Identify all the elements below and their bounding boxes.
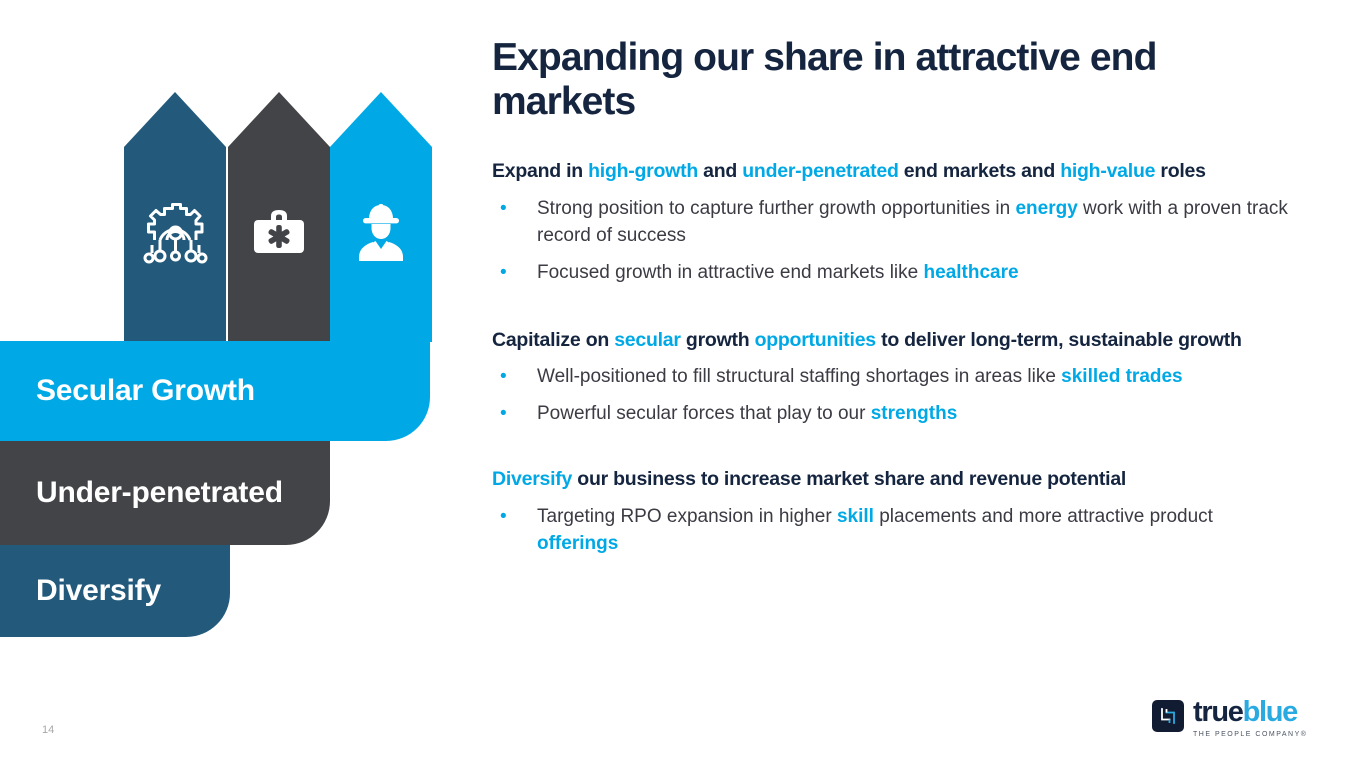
- bullet-glyph-icon: •: [500, 260, 507, 287]
- label-bar-under-penetrated: Under-penetrated: [0, 441, 330, 545]
- arrow-trade: [330, 92, 432, 342]
- section-diversify-bullets: • Targeting RPO expansion in higher skil…: [492, 504, 1292, 558]
- section-expand-bullets: • Strong position to capture further gro…: [492, 196, 1292, 287]
- list-item: • Focused growth in attractive end marke…: [492, 260, 1292, 287]
- section-capitalize-heading: Capitalize on secular growth opportuniti…: [492, 327, 1292, 355]
- label-bar-under-penetrated-text: Under-penetrated: [36, 474, 283, 511]
- section-expand-heading: Expand in high-growth and under-penetrat…: [492, 158, 1292, 186]
- slide-content: Expanding our share in attractive end ma…: [492, 36, 1292, 580]
- label-bar-secular-growth: Secular Growth: [0, 341, 430, 441]
- trueblue-tb-monogram-icon: [1152, 700, 1184, 732]
- list-item: • Powerful secular forces that play to o…: [492, 401, 1292, 428]
- list-item-text: Powerful secular forces that play to our…: [537, 403, 957, 424]
- logo-word-blue: blue: [1243, 696, 1297, 728]
- section-diversify: Diversify our business to increase marke…: [492, 466, 1292, 558]
- list-item: • Well-positioned to fill structural sta…: [492, 364, 1292, 391]
- arrow-health: [228, 92, 330, 342]
- bullet-glyph-icon: •: [500, 196, 507, 223]
- construction-worker-icon: [344, 194, 418, 268]
- trueblue-logo: trueblue THE PEOPLE COMPANY®: [1152, 698, 1307, 738]
- section-expand: Expand in high-growth and under-penetrat…: [492, 158, 1292, 287]
- list-item-text: Focused growth in attractive end markets…: [537, 262, 1019, 283]
- bullet-glyph-icon: •: [500, 401, 507, 428]
- section-capitalize: Capitalize on secular growth opportuniti…: [492, 327, 1292, 429]
- section-diversify-heading: Diversify our business to increase marke…: [492, 466, 1292, 494]
- bullet-glyph-icon: •: [500, 504, 507, 531]
- section-capitalize-bullets: • Well-positioned to fill structural sta…: [492, 364, 1292, 428]
- list-item-text: Strong position to capture further growt…: [537, 198, 1288, 246]
- label-bar-diversify-text: Diversify: [36, 572, 161, 609]
- arrow-tech: [124, 92, 226, 342]
- list-item: • Targeting RPO expansion in higher skil…: [492, 504, 1292, 558]
- logo-word-true: true: [1193, 696, 1243, 728]
- page-title: Expanding our share in attractive end ma…: [492, 36, 1292, 124]
- gear-network-icon: [138, 194, 212, 268]
- label-bar-secular-growth-text: Secular Growth: [36, 372, 255, 409]
- list-item-text: Targeting RPO expansion in higher skill …: [537, 506, 1213, 554]
- logo-tagline: THE PEOPLE COMPANY®: [1193, 731, 1307, 738]
- list-item: • Strong position to capture further gro…: [492, 196, 1292, 250]
- list-item-text: Well-positioned to fill structural staff…: [537, 366, 1183, 387]
- bullet-glyph-icon: •: [500, 364, 507, 391]
- medical-bag-icon: [242, 194, 316, 268]
- label-bar-diversify: Diversify: [0, 545, 230, 637]
- left-graphic-panel: Secular Growth Under-penetrated Diversif…: [0, 0, 460, 768]
- logo-wordmark: trueblue: [1193, 698, 1307, 727]
- logo-textblock: trueblue THE PEOPLE COMPANY®: [1193, 698, 1307, 738]
- page-number: 14: [42, 724, 54, 736]
